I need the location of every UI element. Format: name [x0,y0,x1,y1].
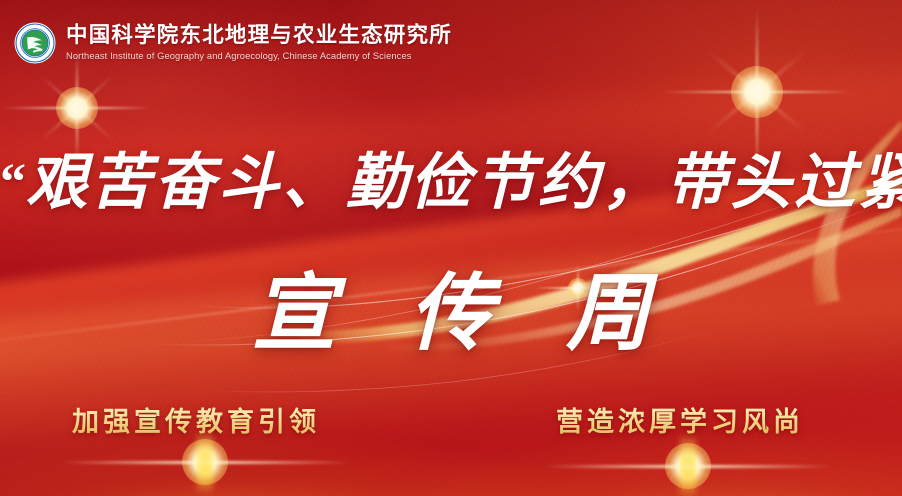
niga-cas-emblem-logo [14,22,56,64]
quote-open-mark: “ [0,154,26,211]
institute-header: 中国科学院东北地理与农业生态研究所 Northeast Institute of… [14,22,452,64]
institute-name-en: Northeast Institute of Geography and Agr… [66,50,452,62]
institute-name-block: 中国科学院东北地理与农业生态研究所 Northeast Institute of… [66,23,452,62]
poster-headline: “艰苦奋斗、勤俭节约，带头过紧日子” [0,132,902,221]
headline-text: 艰苦奋斗、勤俭节约，带头过紧日子 [26,150,902,217]
institute-name-cn: 中国科学院东北地理与农业生态研究所 [66,23,452,48]
poster-canvas: 中国科学院东北地理与农业生态研究所 Northeast Institute of… [0,0,902,496]
slogan-left: 加强宣传教育引领 [72,400,320,439]
slogan-row: 加强宣传教育引领 营造浓厚学习风尚 [0,400,902,439]
poster-subhead: 宣 传 周 [0,246,902,367]
slogan-right: 营造浓厚学习风尚 [556,400,804,439]
